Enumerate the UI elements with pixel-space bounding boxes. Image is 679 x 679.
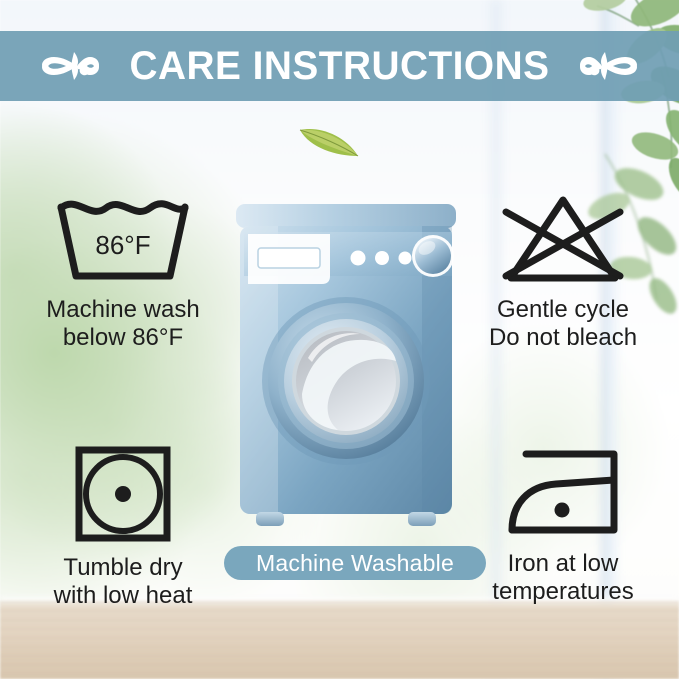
- care-symbol-tumble-dry: Tumble dry with low heat: [12, 442, 234, 611]
- machine-top-lid: [236, 204, 456, 228]
- washing-machine-illustration: [222, 198, 470, 546]
- detergent-drawer: [248, 234, 330, 284]
- control-dial: [412, 235, 454, 277]
- wash-tub-icon: 86°F: [50, 192, 196, 288]
- green-leaf-icon: [296, 116, 364, 162]
- care-symbol-iron: Iron at low temperatures: [452, 442, 674, 607]
- fleur-de-lis-icon: [578, 44, 638, 88]
- page-title: CARE INSTRUCTIONS: [130, 46, 550, 86]
- care-symbol-machine-wash: 86°F Machine wash below 86°F: [12, 192, 234, 353]
- care-symbol-caption: Gentle cycle Do not bleach: [489, 296, 637, 353]
- machine-door: [262, 297, 430, 465]
- machine-feet: [256, 512, 436, 526]
- header-banner: CARE INSTRUCTIONS: [0, 31, 679, 101]
- status-badge-label: Machine Washable: [256, 552, 454, 575]
- care-instructions-poster: CARE INSTRUCTIONS: [0, 0, 679, 679]
- fleur-de-lis-icon: [41, 44, 101, 88]
- wash-temperature-value: 86°F: [95, 230, 150, 260]
- care-symbol-caption: Iron at low temperatures: [492, 550, 633, 607]
- indicator-lights: [351, 251, 412, 266]
- tumble-dry-low-icon: [65, 442, 181, 546]
- triangle-crossed-icon: [490, 192, 636, 288]
- care-symbol-caption: Tumble dry with low heat: [54, 554, 193, 611]
- iron-low-icon: [490, 442, 636, 542]
- care-symbol-caption: Machine wash below 86°F: [46, 296, 199, 353]
- care-symbol-do-not-bleach: Gentle cycle Do not bleach: [452, 192, 674, 353]
- wood-grain-texture: [0, 601, 679, 679]
- status-badge: Machine Washable: [224, 546, 486, 580]
